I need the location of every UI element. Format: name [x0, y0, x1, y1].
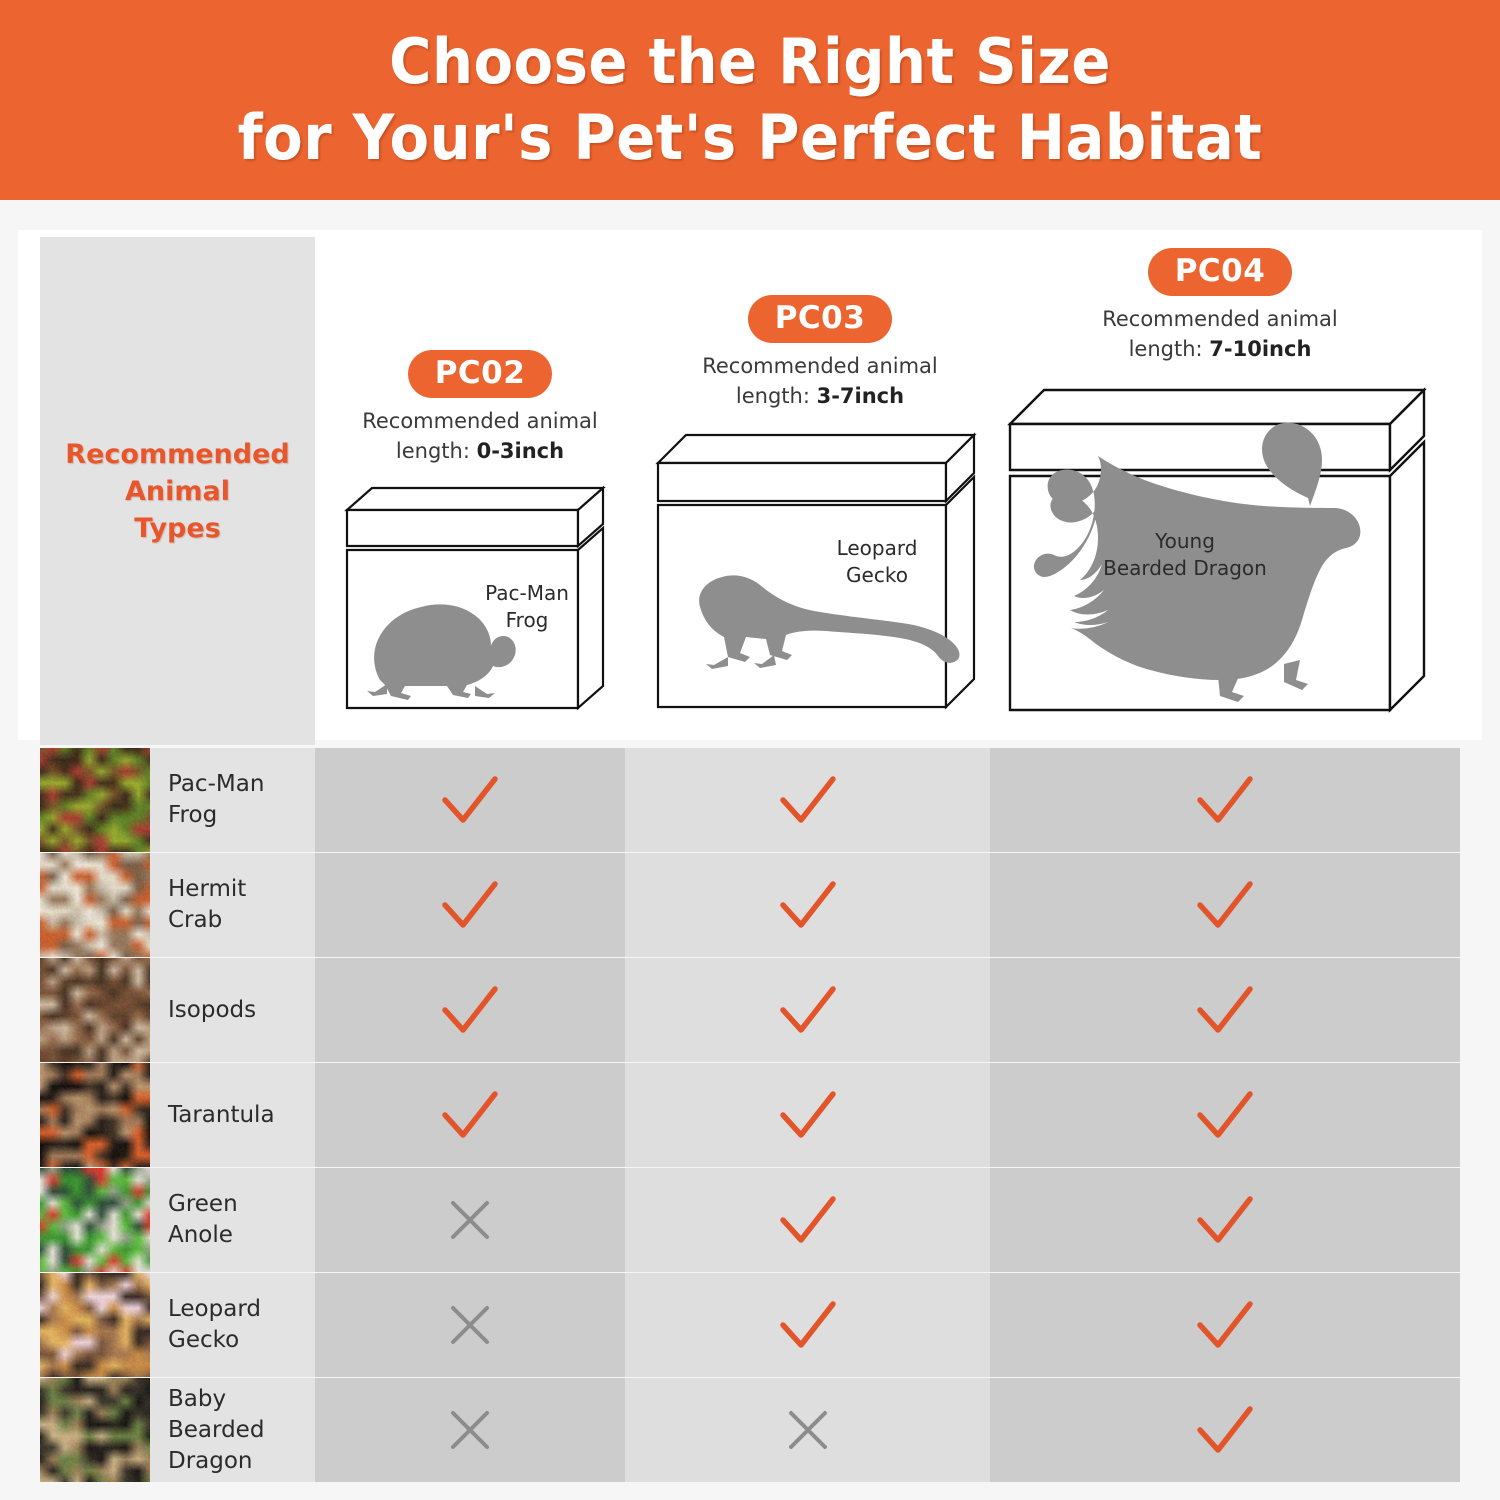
animal-name-cell: Isopods [150, 958, 315, 1062]
animal-thumbnail [40, 1378, 150, 1482]
product-code-badge-pc02: PC02 [408, 350, 553, 398]
check-icon [439, 984, 501, 1036]
compatibility-cell-pc04 [990, 1273, 1460, 1377]
check-icon [1194, 1089, 1256, 1141]
check-icon [1194, 1194, 1256, 1246]
row-header-label: Recommended Animal Types [65, 436, 289, 547]
compatibility-cell-pc03 [625, 958, 990, 1062]
animal-name-line-1: Green [168, 1191, 238, 1217]
check-icon [1194, 879, 1256, 931]
animal-name-line-1: Hermit [168, 876, 246, 902]
animal-name-label: Isopods [168, 995, 256, 1026]
animal-name-cell: Pac-ManFrog [150, 748, 315, 852]
product-desc-pc04: Recommended animal length: 7-10inch [1000, 304, 1440, 364]
product-desc-label-pc02: length: [396, 439, 470, 463]
compatibility-cell-pc02 [315, 1378, 625, 1482]
animal-name-cell: HermitCrab [150, 853, 315, 957]
row-header-line-1: Recommended [65, 436, 289, 473]
product-desc-value-pc04: 7-10inch [1209, 337, 1311, 361]
compatibility-cell-pc02 [315, 958, 625, 1062]
compatibility-cell-pc02 [315, 853, 625, 957]
compatibility-cell-pc03 [625, 1378, 990, 1482]
page-title-line-2: for Your's Pet's Perfect Habitat [238, 100, 1263, 176]
row-header-panel: Recommended Animal Types [40, 237, 315, 745]
box-label-line1-pc03: Leopard [802, 535, 952, 562]
check-icon [777, 1194, 839, 1246]
box-illustration-pc04: Young Bearded Dragon [1000, 378, 1440, 718]
check-icon [777, 1299, 839, 1351]
compatibility-cell-pc03 [625, 1063, 990, 1167]
table-row: Baby BeardedDragon [0, 1378, 1500, 1482]
product-code-badge-pc04: PC04 [1148, 248, 1293, 296]
compatibility-cell-pc04 [990, 1378, 1460, 1482]
animal-name-label: Tarantula [168, 1100, 275, 1131]
animal-name-label: HermitCrab [168, 874, 246, 936]
check-icon [1194, 1404, 1256, 1456]
product-code-badge-pc03: PC03 [748, 295, 893, 343]
box-label-pc03: Leopard Gecko [802, 535, 952, 589]
table-row: HermitCrab [0, 853, 1500, 957]
compatibility-cell-pc02 [315, 748, 625, 852]
comparison-table-rows: Pac-ManFrog HermitCrab Isopods Tarantula… [0, 748, 1500, 1483]
product-desc-line1-pc02: Recommended animal [362, 409, 598, 433]
row-header-line-3: Types [65, 510, 289, 547]
check-icon [777, 1089, 839, 1141]
product-column-pc04: PC04 Recommended animal length: 7-10inch [1000, 248, 1440, 718]
animal-name-label: Baby BeardedDragon [168, 1384, 315, 1477]
cross-icon [447, 1407, 493, 1453]
box-label-line1-pc04: Young [1070, 528, 1300, 555]
row-header-line-2: Animal [65, 473, 289, 510]
compatibility-cell-pc04 [990, 853, 1460, 957]
animal-name-line-1: Pac-Man [168, 771, 264, 797]
table-row: Isopods [0, 958, 1500, 1062]
table-row: LeopardGecko [0, 1273, 1500, 1377]
page-header-banner: Choose the Right Size for Your's Pet's P… [0, 0, 1500, 200]
animal-name-label: GreenAnole [168, 1189, 238, 1251]
check-icon [777, 984, 839, 1036]
compatibility-cell-pc04 [990, 958, 1460, 1062]
product-desc-label-pc03: length: [736, 384, 810, 408]
box-label-line2-pc03: Gecko [802, 562, 952, 589]
animal-thumbnail [40, 1063, 150, 1167]
check-icon [439, 879, 501, 931]
product-desc-line1-pc03: Recommended animal [702, 354, 938, 378]
animal-name-line-2: Crab [168, 907, 222, 933]
box-illustration-pc02: Pac-Man Frog [335, 480, 625, 716]
check-icon [1194, 984, 1256, 1036]
cross-icon [447, 1302, 493, 1348]
box-illustration-pc03: Leopard Gecko [650, 425, 990, 715]
table-row: Pac-ManFrog [0, 748, 1500, 852]
page-title-line-1: Choose the Right Size [389, 24, 1111, 100]
table-row: Tarantula [0, 1063, 1500, 1167]
animal-thumbnail [40, 748, 150, 852]
check-icon [1194, 1299, 1256, 1351]
compatibility-cell-pc02 [315, 1168, 625, 1272]
animal-name-line-2: Frog [168, 802, 217, 828]
compatibility-cell-pc04 [990, 748, 1460, 852]
size-comparison-infographic: Choose the Right Size for Your's Pet's P… [0, 0, 1500, 1500]
check-icon [777, 774, 839, 826]
animal-name-line-2: Dragon [168, 1448, 253, 1474]
animal-name-cell: LeopardGecko [150, 1273, 315, 1377]
compatibility-cell-pc04 [990, 1168, 1460, 1272]
compatibility-cell-pc03 [625, 748, 990, 852]
animal-name-label: LeopardGecko [168, 1294, 261, 1356]
compatibility-cell-pc03 [625, 853, 990, 957]
animal-name-line-2: Anole [168, 1222, 233, 1248]
table-row: GreenAnole [0, 1168, 1500, 1272]
compatibility-cell-pc02 [315, 1273, 625, 1377]
cross-icon [785, 1407, 831, 1453]
animal-name-line-2: Gecko [168, 1327, 239, 1353]
cross-icon [447, 1197, 493, 1243]
animal-name-line-1: Isopods [168, 997, 256, 1023]
check-icon [439, 1089, 501, 1141]
check-icon [777, 879, 839, 931]
box-label-pc04: Young Bearded Dragon [1070, 528, 1300, 582]
product-desc-value-pc03: 3-7inch [817, 384, 905, 408]
product-desc-line1-pc04: Recommended animal [1102, 307, 1338, 331]
product-column-pc03: PC03 Recommended animal length: 3-7inch [650, 295, 990, 715]
animal-name-line-1: Baby Bearded [168, 1386, 264, 1443]
box-label-line2-pc02: Frog [457, 607, 597, 634]
animal-name-cell: Tarantula [150, 1063, 315, 1167]
product-desc-value-pc02: 0-3inch [477, 439, 565, 463]
content-area: Recommended Animal Types PC02 Recommende… [0, 200, 1500, 1500]
check-icon [439, 774, 501, 826]
animal-name-cell: Baby BeardedDragon [150, 1378, 315, 1482]
box-label-line2-pc04: Bearded Dragon [1070, 555, 1300, 582]
animal-thumbnail [40, 853, 150, 957]
product-column-pc02: PC02 Recommended animal length: 0-3inch [335, 350, 625, 716]
compatibility-cell-pc03 [625, 1273, 990, 1377]
animal-thumbnail [40, 1273, 150, 1377]
compatibility-cell-pc02 [315, 1063, 625, 1167]
box-label-line1-pc02: Pac-Man [457, 580, 597, 607]
check-icon [1194, 774, 1256, 826]
compatibility-cell-pc04 [990, 1063, 1460, 1167]
animal-name-cell: GreenAnole [150, 1168, 315, 1272]
animal-name-label: Pac-ManFrog [168, 769, 264, 831]
animal-name-line-1: Tarantula [168, 1102, 275, 1128]
box-label-pc02: Pac-Man Frog [457, 580, 597, 634]
animal-thumbnail [40, 1168, 150, 1272]
animal-thumbnail [40, 958, 150, 1062]
product-desc-pc02: Recommended animal length: 0-3inch [335, 406, 625, 466]
product-desc-label-pc04: length: [1129, 337, 1203, 361]
animal-name-line-1: Leopard [168, 1296, 261, 1322]
product-desc-pc03: Recommended animal length: 3-7inch [650, 351, 990, 411]
compatibility-cell-pc03 [625, 1168, 990, 1272]
